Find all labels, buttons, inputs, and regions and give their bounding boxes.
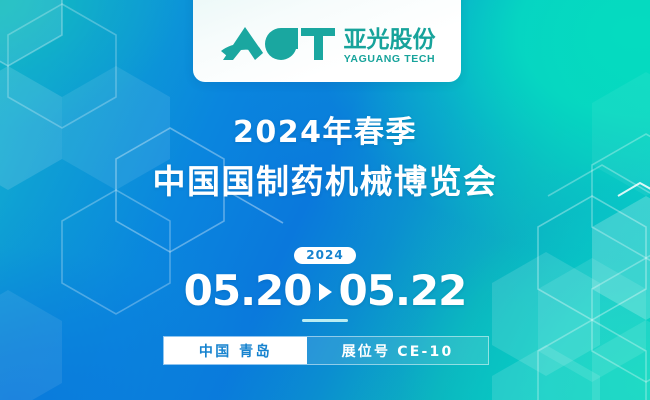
triangle-right-icon	[319, 283, 332, 301]
venue-booth: 展位号 CE-10	[307, 337, 488, 364]
logo-company-en: YAGUANG TECH	[344, 54, 436, 65]
agt-logo-icon	[219, 23, 337, 70]
date-range: 05.20 05.22	[0, 270, 650, 312]
logo-company-name: 亚光股份 YAGUANG TECH	[344, 29, 436, 65]
hexagon-group-right	[484, 0, 650, 400]
date-start: 05.20	[184, 270, 312, 312]
headline-line-2: 中国国制药机械博览会	[0, 165, 650, 198]
date-end: 05.22	[339, 270, 467, 312]
date-block: 2024 05.20 05.22	[0, 246, 650, 322]
venue-bar: 中国 青岛 展位号 CE-10	[163, 336, 489, 365]
logo-company-cn: 亚光股份	[344, 29, 436, 52]
headline-line-1: 2024年春季	[0, 118, 650, 148]
headline-block: 2024年春季 中国国制药机械博览会	[0, 118, 650, 198]
date-underline-rule	[302, 319, 348, 322]
venue-city: 中国 青岛	[164, 337, 307, 364]
year-badge: 2024	[294, 247, 355, 264]
exhibition-banner: 亚光股份 YAGUANG TECH 2024年春季 中国国制药机械博览会 202…	[0, 0, 650, 400]
logo-row: 亚光股份 YAGUANG TECH	[219, 23, 436, 70]
logo-card: 亚光股份 YAGUANG TECH	[193, 0, 461, 82]
